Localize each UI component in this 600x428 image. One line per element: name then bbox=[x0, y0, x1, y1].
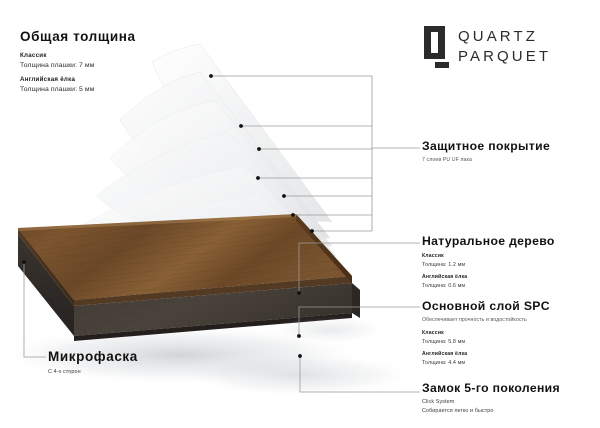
spc-variant-1-value: Толщина: 5.8 мм bbox=[422, 338, 550, 346]
leader-spc bbox=[299, 307, 420, 336]
dot-lacquer-1 bbox=[209, 74, 213, 78]
callout-total-thickness: Общая толщина Классик Толщина плашки: 7 … bbox=[20, 30, 136, 95]
total-thickness-variant-2-name: Английская ёлка bbox=[20, 76, 136, 85]
wood-variant-2-value: Толщина: 0.6 мм bbox=[422, 282, 555, 290]
wood-variant-1-value: Толщина: 1.2 мм bbox=[422, 261, 555, 269]
callout-dots bbox=[22, 74, 314, 358]
leader-microbevel bbox=[24, 262, 46, 357]
brand-logo: QUARTZ PARQUET bbox=[424, 26, 551, 70]
lock-note-2: Собирается легко и быстро bbox=[422, 407, 560, 415]
dot-wood bbox=[297, 291, 301, 295]
brand-line-1: QUARTZ bbox=[458, 27, 551, 47]
dot-lacquer-2 bbox=[239, 124, 243, 128]
total-thickness-variant-1-name: Классик bbox=[20, 52, 136, 61]
spc-note: Обеспечивает прочность и водостойкость bbox=[422, 317, 550, 325]
microbevel-note: С 4-х сторон bbox=[48, 368, 138, 376]
dot-microbevel bbox=[22, 260, 26, 264]
leader-lock bbox=[300, 356, 420, 392]
lock-title: Замок 5-го поколения bbox=[422, 382, 560, 395]
callout-locking-system: Замок 5-го поколения Click System Собира… bbox=[422, 382, 560, 415]
callout-spc-core: Основной слой SPC Обеспечивает прочность… bbox=[422, 300, 550, 367]
spc-variant-1-name: Классик bbox=[422, 330, 550, 338]
total-thickness-variant-1-value: Толщина плашки: 7 мм bbox=[20, 61, 136, 71]
dot-lacquer-5 bbox=[282, 194, 286, 198]
dot-spc bbox=[297, 334, 301, 338]
total-thickness-variant-2-value: Толщина плашки: 5 мм bbox=[20, 85, 136, 95]
total-thickness-title: Общая толщина bbox=[20, 30, 136, 45]
microbevel-title: Микрофаска bbox=[48, 350, 138, 365]
coating-title: Защитное покрытие bbox=[422, 140, 550, 153]
spc-title: Основной слой SPC bbox=[422, 300, 550, 313]
brand-line-2: PARQUET bbox=[458, 47, 551, 67]
spc-variant-2-value: Толщина: 4.4 мм bbox=[422, 359, 550, 367]
coating-note: 7 слоев PU UF лака bbox=[422, 157, 550, 165]
dot-lacquer-6 bbox=[291, 213, 295, 217]
quartz-q-mark-icon bbox=[424, 26, 449, 70]
callout-microbevel: Микрофаска С 4-х сторон bbox=[48, 350, 138, 376]
leader-wood bbox=[299, 243, 420, 293]
brand-wordmark: QUARTZ PARQUET bbox=[458, 26, 551, 68]
infographic-canvas: QUARTZ PARQUET Общая толщина Классик Тол… bbox=[0, 0, 600, 428]
dot-lacquer-4 bbox=[256, 176, 260, 180]
wood-variant-2-name: Английская ёлка bbox=[422, 274, 555, 282]
callout-protective-coating: Защитное покрытие 7 слоев PU UF лака bbox=[422, 140, 550, 165]
lock-note-1: Click System bbox=[422, 398, 560, 406]
wood-title: Натуральное дерево bbox=[422, 235, 555, 248]
dot-lacquer-7 bbox=[310, 229, 314, 233]
callout-natural-wood: Натуральное дерево Классик Толщина: 1.2 … bbox=[422, 235, 555, 290]
dot-lacquer-3 bbox=[257, 147, 261, 151]
dot-lock bbox=[298, 354, 302, 358]
wood-variant-1-name: Классик bbox=[422, 253, 555, 261]
spc-variant-2-name: Английская ёлка bbox=[422, 351, 550, 359]
